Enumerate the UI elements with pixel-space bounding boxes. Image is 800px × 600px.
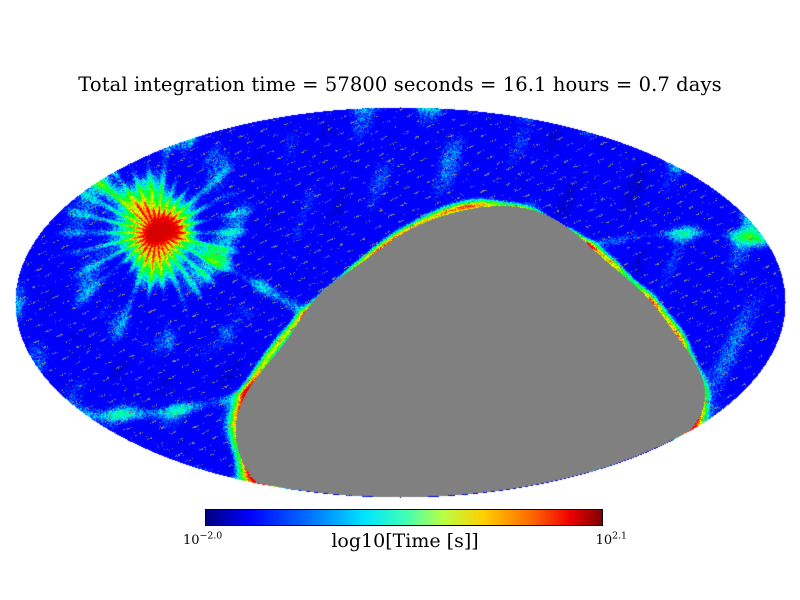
colorbar-max-exponent: 2.1 [612, 531, 627, 542]
figure-canvas: Total integration time = 57800 seconds =… [0, 0, 800, 600]
mollweide-sky-heatmap [14, 106, 786, 498]
colorbar-min-mantissa: 10 [183, 533, 200, 548]
colorbar-axis-label: log10[Time [s]] [205, 530, 605, 552]
colorbar: 10−2.0 102.1 log10[Time [s]] [205, 509, 605, 561]
page-title: Total integration time = 57800 seconds =… [0, 73, 800, 96]
skymap-plot [14, 106, 786, 498]
colorbar-gradient [205, 509, 603, 526]
